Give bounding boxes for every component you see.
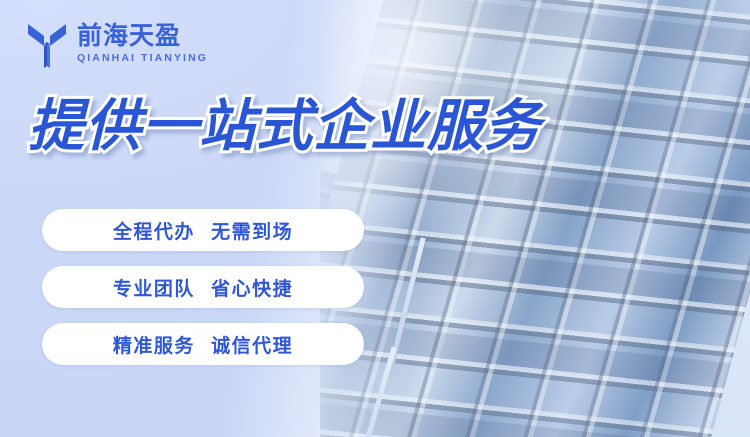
skyscraper-photo [320, 0, 750, 437]
feature-pill-label: 精准服务 诚信代理 [113, 331, 293, 358]
brand-name-en: QIANHAI TIANYING [77, 52, 208, 64]
qianhai-tianying-logo-mark [28, 22, 66, 68]
brand-name-cn: 前海天盈 [77, 22, 208, 49]
feature-pill-list: 全程代办 无需到场 专业团队 省心快捷 精准服务 诚信代理 [42, 209, 364, 365]
brand-logo[interactable]: 前海天盈 QIANHAI TIANYING [28, 22, 208, 68]
feature-pill-label: 专业团队 省心快捷 [113, 274, 293, 301]
headline: 提供一站式企业服务 [28, 98, 541, 157]
feature-pill[interactable]: 全程代办 无需到场 [42, 209, 364, 251]
feature-pill-label: 全程代办 无需到场 [113, 217, 293, 244]
brand-wordmark: 前海天盈 QIANHAI TIANYING [77, 22, 208, 64]
feature-pill[interactable]: 专业团队 省心快捷 [42, 266, 364, 308]
feature-pill[interactable]: 精准服务 诚信代理 [42, 323, 364, 365]
promo-banner: 前海天盈 QIANHAI TIANYING 提供一站式企业服务 全程代办 无需到… [0, 0, 750, 437]
